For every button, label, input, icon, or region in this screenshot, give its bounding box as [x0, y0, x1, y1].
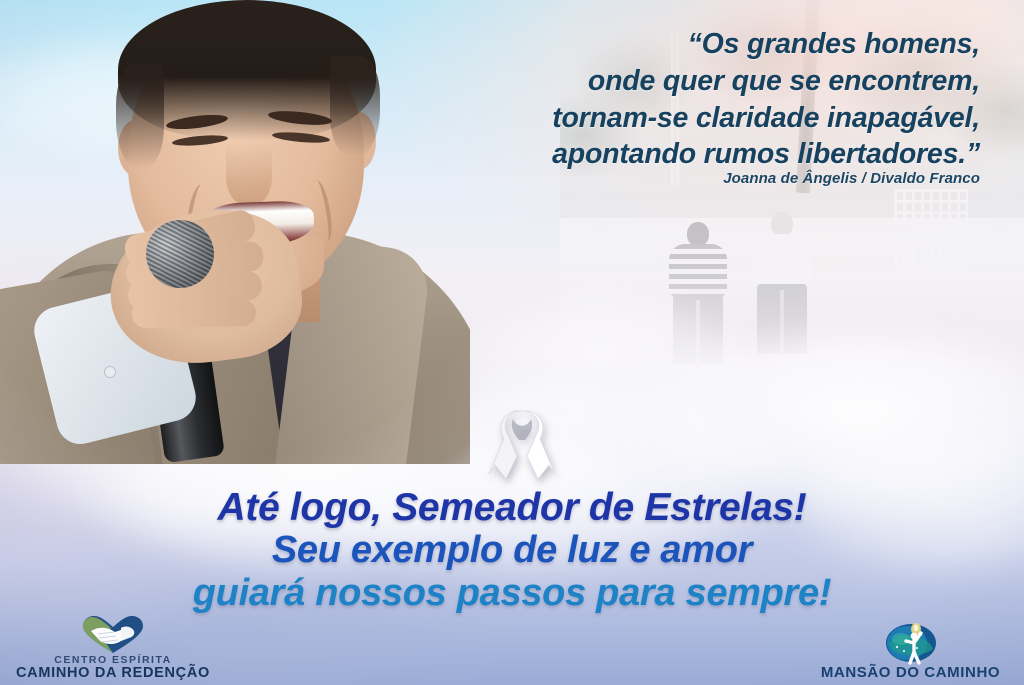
- finger: [132, 299, 256, 328]
- figure-torso: [669, 244, 727, 296]
- logo-right-line-2: MANSÃO DO CAMINHO: [821, 665, 1000, 681]
- nose: [226, 144, 272, 206]
- photo-gate: [894, 189, 968, 273]
- quote-line-2: onde quer que se encontrem,: [420, 63, 980, 100]
- photo-figure-striped-shirt: [668, 222, 728, 370]
- quote-line-4: apontando rumos libertadores.”: [420, 136, 980, 173]
- quote-line-1: “Os grandes homens,: [420, 26, 980, 63]
- headline-line-3: guiará nossos passos para sempre!: [0, 573, 1024, 613]
- figure-torso: [753, 234, 811, 286]
- figure-head: [771, 212, 793, 236]
- logo-right-text: MANSÃO DO CAMINHO: [821, 665, 1000, 681]
- globe-figure-icon: [883, 621, 939, 665]
- cuff-button: [104, 366, 116, 378]
- logo-left-text: CENTRO ESPÍRITA CAMINHO DA REDENÇÃO: [16, 655, 210, 681]
- headline-line-1: Até logo, Semeador de Estrelas!: [0, 487, 1024, 528]
- white-mourning-ribbon-icon: [486, 409, 558, 487]
- headline-line-2: Seu exemplo de luz e amor: [0, 530, 1024, 570]
- quote-line-3: tornam-se claridade inapagável,: [420, 100, 980, 137]
- memorial-poster: “Os grandes homens, onde quer que se enc…: [0, 0, 1024, 685]
- quote-text: “Os grandes homens, onde quer que se enc…: [420, 26, 980, 173]
- quote-attribution: Joanna de Ângelis / Divaldo Franco: [420, 170, 980, 187]
- photo-figure-white-shirt: [752, 212, 812, 364]
- logo-left-line-2: CAMINHO DA REDENÇÃO: [16, 666, 210, 681]
- headline-message: Até logo, Semeador de Estrelas! Seu exem…: [0, 487, 1024, 613]
- figure-head: [687, 222, 709, 246]
- figure-legs: [757, 284, 807, 354]
- portrait-divaldo-franco: [0, 0, 470, 464]
- hair-side-right: [330, 56, 380, 156]
- logo-mansao-do-caminho[interactable]: MANSÃO DO CAMINHO: [803, 621, 1018, 681]
- figure-legs: [673, 294, 723, 364]
- logo-centro-espirita[interactable]: CENTRO ESPÍRITA CAMINHO DA REDENÇÃO: [8, 615, 218, 681]
- hair-side-left: [116, 64, 164, 168]
- heart-hands-icon: [81, 615, 145, 655]
